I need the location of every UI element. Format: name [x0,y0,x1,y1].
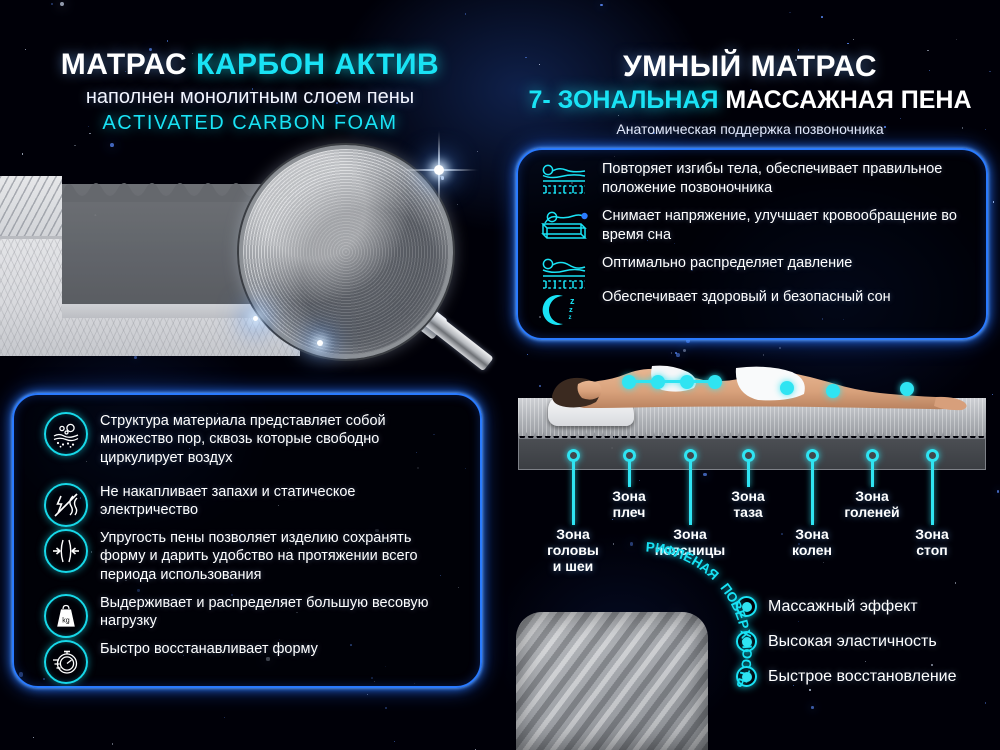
bullet-dot-icon [736,666,757,687]
tension-relief-icon [538,207,590,249]
zone-label-line: и шеи [517,559,629,575]
benefit-bullet-0[interactable]: Массажный эффект [736,596,918,617]
benefit-bullet-1-text: Высокая эластичность [768,633,937,651]
left-subtitle-en: ACTIVATED CARBON FOAM [0,112,500,135]
spine-dot [622,375,636,389]
no-odor-static-icon [44,483,88,527]
zone-leader-line-1 [628,461,631,487]
bullet-dot-icon [736,596,757,617]
magnifier-handle [422,310,494,371]
left-title: МАТРАС КАРБОН АКТИВ [0,48,500,82]
zone-label-2: Зонапоясницы [634,527,746,559]
zone-label-line: головы [517,543,629,559]
surface-label-char: Я [704,565,721,583]
spine-dot [680,375,694,389]
zone-label-5: Зонаголеней [816,489,928,521]
sparkle-core-icon [434,165,444,175]
right-subtitle: Анатомическая поддержка позвоночника [500,121,1000,137]
surface-label-char: А [697,559,714,577]
right-feature-3-text: Обеспечивает здоровый и безопасный сон [602,288,891,307]
svg-text:z: z [569,315,572,321]
right-title-line2-white: МАССАЖНАЯ ПЕНА [725,86,971,114]
body-curve-support-icon [538,160,590,202]
left-feature-4[interactable]: Быстро восстанавливает форму [44,640,456,684]
right-feature-0-text: Повторяет изгибы тела, обеспечивает прав… [602,160,976,197]
spine-alignment-line [628,380,714,383]
zone-label-line: Зона [573,489,685,505]
left-feature-4-text: Быстро восстанавливает форму [100,640,318,658]
benefit-bullet-0-text: Массажный эффект [768,598,918,616]
right-feature-3[interactable]: z z z Обеспечивает здоровый и безопасный… [538,288,976,330]
weight-kg-icon: kg [44,594,88,638]
zone-leader-line-3 [747,461,750,487]
surface-label-char: Р [735,618,752,631]
corrugated-surface-photo [516,612,708,750]
zone-label-1: Зонаплеч [573,489,685,521]
spine-dot [651,375,665,389]
sleeping-person-silhouette [540,350,980,424]
right-title-line1: УМНЫЙ МАТРАС [500,50,1000,84]
zone-label-line: поясницы [634,543,746,559]
zone-label-line: стоп [876,543,988,559]
bullet-dot-icon [736,631,757,652]
surface-label-char [713,575,727,588]
stopwatch-icon [44,640,88,684]
right-title-line2-cyan: 7- ЗОНАЛЬНАЯ [528,86,725,114]
sparkle-core-icon [317,340,323,346]
magnifier-lens [239,145,453,359]
zone-label-line: таза [692,505,804,521]
left-feature-2[interactable]: Упругость пены позволяет изделию сохраня… [44,529,456,584]
benefit-bullet-2[interactable]: Быстрое восстановление [736,666,957,687]
spine-dot [780,381,794,395]
left-feature-3-text: Выдерживает и распределяет большую весов… [100,594,456,631]
right-feature-1-text: Снимает напряжение, улучшает кровообраще… [602,207,976,244]
zone-label-line: Зона [692,489,804,505]
zone-label-0: Зонаголовыи шеи [517,527,629,575]
right-feature-0[interactable]: Повторяет изгибы тела, обеспечивает прав… [538,160,976,202]
svg-text:z: z [569,305,573,314]
left-title-white: МАТРАС [61,48,196,81]
zone-label-line: Зона [816,489,928,505]
zone-label-line: Зона [517,527,629,543]
zone-label-line: голеней [816,505,928,521]
mattress-quilted-cover [0,176,62,239]
zone-label-line: плеч [573,505,685,521]
zone-label-6: Зонастоп [876,527,988,559]
left-subtitle: наполнен монолитным слоем пены [0,86,500,109]
right-title-line2: 7- ЗОНАЛЬНАЯ МАССАЖНАЯ ПЕНА [500,86,1000,115]
left-feature-1-text: Не накапливает запахи и статическое элек… [100,483,456,520]
zone-label-3: Зонатаза [692,489,804,521]
left-feature-0-text: Структура материала представляет собой м… [100,412,456,467]
zone-leader-line-4 [811,461,814,525]
air-pores-icon [44,412,88,456]
zone-leader-line-5 [871,461,874,487]
sparkle-core-icon [253,316,258,321]
zone-label-line: Зона [876,527,988,543]
moon-sleep-icon: z z z [538,288,590,330]
left-feature-2-text: Упругость пены позволяет изделию сохраня… [100,529,456,584]
surface-label-char: П [717,580,735,597]
right-feature-1[interactable]: Снимает напряжение, улучшает кровообраще… [538,207,976,249]
zone-label-line: колен [756,543,868,559]
magnifier-foam-zoom [231,140,501,370]
zone-label-4: Зонаколен [756,527,868,559]
spine-dot [708,375,722,389]
left-header: МАТРАС КАРБОН АКТИВ наполнен монолитным … [0,48,500,135]
svg-text:kg: kg [62,618,70,625]
spine-dot [900,382,914,396]
left-feature-0[interactable]: Структура материала представляет собой м… [44,412,456,467]
zone-label-line: Зона [756,527,868,543]
left-title-cyan: КАРБОН АКТИВ [196,48,439,81]
left-feature-3[interactable]: kg Выдерживает и распределяет большую ве… [44,594,456,638]
infographic-canvas: МАТРАС КАРБОН АКТИВ наполнен монолитным … [0,0,1000,750]
zone-leader-line-6 [931,461,934,525]
left-feature-1[interactable]: Не накапливает запахи и статическое элек… [44,483,456,527]
zone-label-line: Зона [634,527,746,543]
benefit-bullet-1[interactable]: Высокая эластичность [736,631,937,652]
right-header: УМНЫЙ МАТРАС 7- ЗОНАЛЬНАЯ МАССАЖНАЯ ПЕНА… [500,50,1000,137]
right-feature-2-text: Оптимально распределяет давление [602,254,852,273]
spine-dot [826,384,840,398]
elasticity-arrows-icon [44,529,88,573]
benefit-bullet-2-text: Быстрое восстановление [768,668,957,686]
